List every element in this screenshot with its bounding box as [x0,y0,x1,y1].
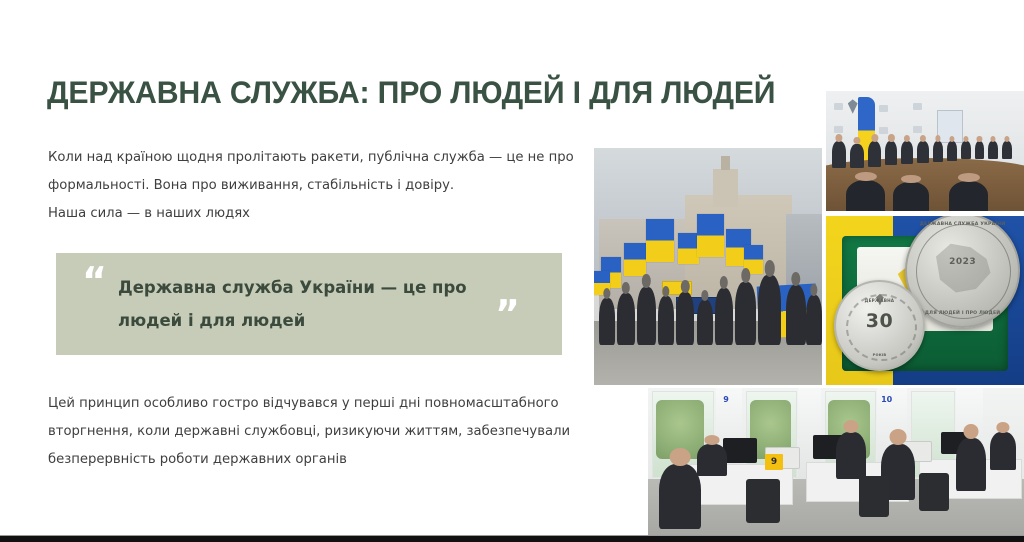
closing-line-1: Цей принцип особливо гостро відчувався у… [48,390,588,418]
person [658,296,674,344]
coin-small-number: 30 [836,310,923,332]
person [885,141,897,165]
person [599,298,615,345]
coin-large-year: 2023 [907,257,1018,267]
person [933,141,943,161]
person [868,141,882,166]
monitor [723,438,757,463]
photo-coins: ДЕРЖАВНА СЛУЖБА УКРАЇНИ 2023 ДЛЯ ЛЮДЕЙ І… [826,216,1024,385]
person [846,180,886,211]
chair [919,473,949,511]
photo-service-center: 9 10 9 10 11 [648,388,1024,535]
coin-large-arc-top: ДЕРЖАВНА СЛУЖБА УКРАЇНИ [907,222,1018,227]
person [617,293,635,345]
person [715,288,733,344]
person [901,141,913,164]
quote-close-icon: ” [495,295,520,333]
quote-block: “ Державна служба України — це про людей… [56,253,562,355]
person [676,292,694,345]
person-clerk [836,432,866,479]
person-clerk [697,444,727,476]
person [786,285,807,345]
person-visitor [659,464,700,529]
person [758,275,781,344]
person [697,300,713,345]
window-number-10: 10 [881,395,892,404]
flag-icon [646,219,673,262]
intro-line-2: формальності. Вона про виживання, стабіл… [48,172,578,200]
person [947,141,957,160]
person-clerk [990,432,1016,470]
person [637,287,655,345]
page-title: ДЕРЖАВНА СЛУЖБА: ПРО ЛЮДЕЙ І ДЛЯ ЛЮДЕЙ [47,76,777,109]
closing-paragraph: Цей принцип особливо гостро відчувався у… [48,390,588,474]
coin-small-arc-top: ДЕРЖАВНА [836,298,923,303]
rally-tower [713,169,738,207]
person [975,141,985,159]
slide-canvas: ДЕРЖАВНА СЛУЖБА: ПРО ЛЮДЕЙ І ДЛЯ ЛЮДЕЙ К… [0,0,1024,535]
chair [746,479,780,523]
coin-small-arc-bottom: РОКІВ [836,353,923,357]
intro-paragraph: Коли над країною щодня пролітають ракети… [48,144,578,228]
person [893,182,929,211]
person [1002,141,1012,159]
window-number-9: 9 [723,395,729,404]
person [917,141,929,163]
person [988,141,998,159]
person [806,295,822,345]
person [832,141,846,167]
person [850,144,864,168]
quote-text: Державна служба України — це про людей і… [118,271,518,337]
intro-line-3: Наша сила — в наших людях [48,200,578,228]
quote-line-1: Державна служба України — це про [118,271,518,304]
person [949,181,989,211]
coin-small: ДЕРЖАВНА 30 РОКІВ [834,280,925,372]
chair [859,476,889,517]
flag-icon [697,214,724,257]
rally-crowd [594,264,822,345]
quote-line-2: людей і для людей [118,304,518,337]
closing-line-3: безперервність роботи державних органів [48,446,588,474]
closing-line-2: вторгнення, коли державні службовці, риз… [48,418,588,446]
desk-number-9: 9 [765,454,784,470]
photo-rally [594,148,822,385]
quote-open-icon: “ [82,262,107,300]
person [961,141,971,159]
person-visitor [956,438,986,491]
person [735,282,756,345]
photo-meeting [826,91,1024,211]
intro-line-1: Коли над країною щодня пролітають ракети… [48,144,578,172]
